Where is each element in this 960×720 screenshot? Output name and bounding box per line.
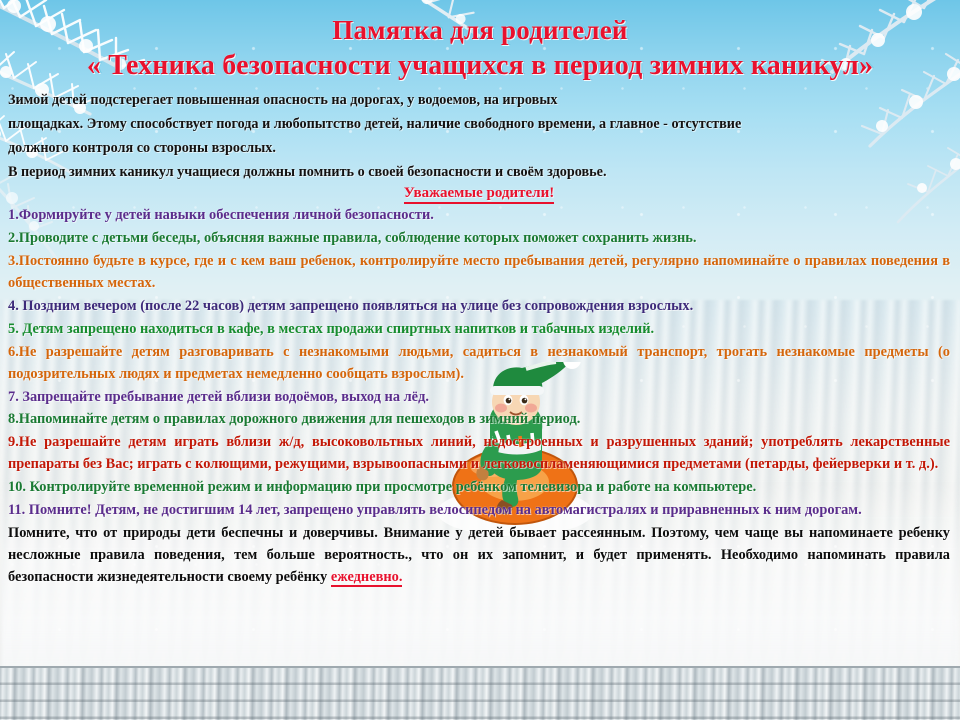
wooden-plank-footer bbox=[0, 666, 960, 720]
intro-line-3: должного контроля со стороны взрослых. bbox=[8, 137, 950, 160]
intro-line-4: В период зимних каникул учащиеся должны … bbox=[8, 161, 950, 184]
rule-item-3: 3.Постоянно будьте в курсе, где и с кем … bbox=[8, 251, 950, 295]
rule-item-10: 10. Контролируйте временной режим и инфо… bbox=[8, 477, 950, 499]
rule-item-8: 8.Напоминайте детям о правилах дорожного… bbox=[8, 409, 950, 431]
rule-item-11: 11. Помните! Детям, не достигшим 14 лет,… bbox=[8, 500, 950, 522]
salutation: Уважаемые родители! bbox=[8, 185, 950, 202]
rule-item-2: 2.Проводите с детьми беседы, объясняя ва… bbox=[8, 228, 950, 250]
rule-item-7: 7. Запрещайте пребывание детей вблизи во… bbox=[8, 387, 950, 409]
rule-item-4: 4. Поздним вечером (после 22 часов) детя… bbox=[8, 296, 950, 318]
winter-safety-poster: Памятка для родителей « Техника безопасн… bbox=[0, 0, 960, 720]
poster-body: Зимой детей подстерегает повышенная опас… bbox=[0, 89, 960, 588]
closing-paragraph: Помните, что от природы дети беспечны и … bbox=[8, 523, 950, 589]
rule-item-5: 5. Детям запрещено находиться в кафе, в … bbox=[8, 319, 950, 341]
salutation-text: Уважаемые родители! bbox=[404, 185, 554, 204]
poster-title-block: Памятка для родителей « Техника безопасн… bbox=[0, 0, 960, 81]
poster-title-line2: « Техника безопасности учащихся в период… bbox=[0, 51, 960, 81]
rule-item-9: 9.Не разрешайте детям играть вблизи ж/д,… bbox=[8, 432, 950, 476]
rule-item-1: 1.Формируйте у детей навыки обеспечения … bbox=[8, 205, 950, 227]
closing-emphasis: ежедневно. bbox=[331, 569, 403, 587]
intro-line-2: площадках. Этому способствует погода и л… bbox=[8, 113, 950, 136]
closing-text: Помните, что от природы дети беспечны и … bbox=[8, 525, 950, 585]
intro-line-1: Зимой детей подстерегает повышенная опас… bbox=[8, 89, 950, 112]
poster-title-line1: Памятка для родителей bbox=[0, 16, 960, 45]
rule-item-6: 6.Не разрешайте детям разговаривать с не… bbox=[8, 342, 950, 386]
